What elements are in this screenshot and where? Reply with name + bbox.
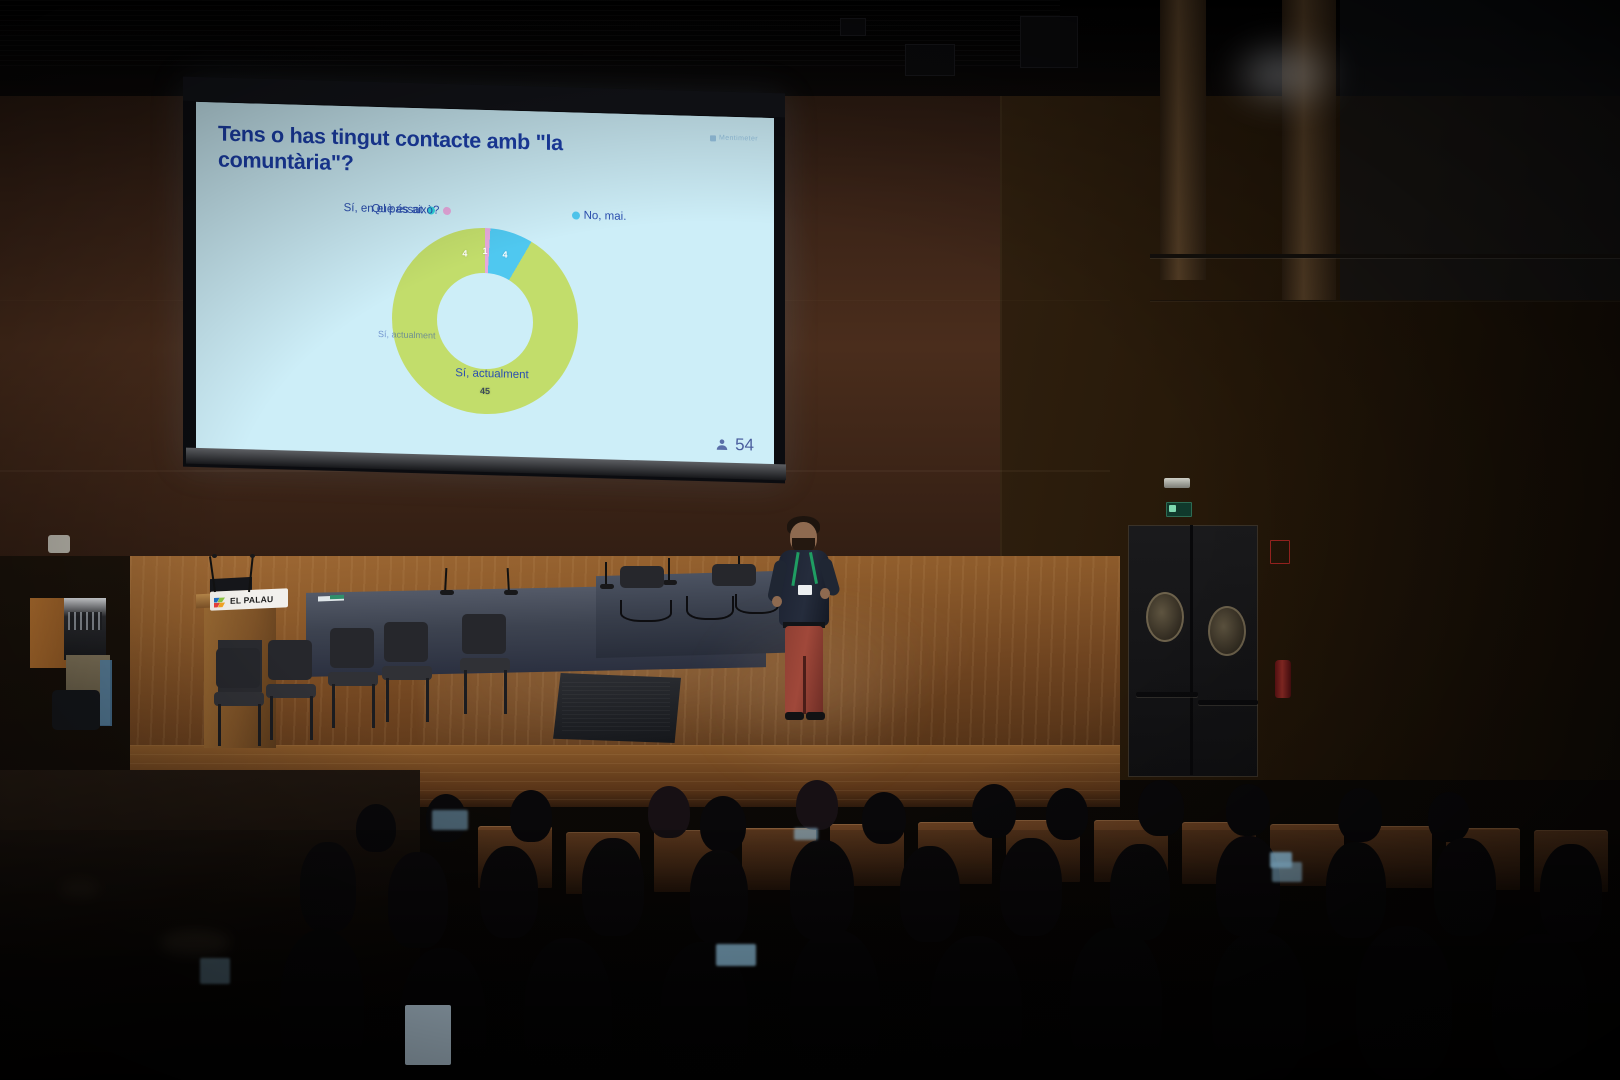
exit-doors[interactable] [1128,525,1258,777]
table-marker [330,595,344,599]
presenter [770,516,840,731]
response-count-value: 54 [735,435,754,456]
ceiling-grid [0,0,1060,70]
legend-item-que-es-aixo: Què és això? [372,203,452,217]
audience-shadow-overlay [0,830,1620,1080]
segment-value-que-es-aixo: 1 [482,246,487,256]
wall-light-glow [1242,52,1328,96]
mentimeter-slide: Mentimeter Tens o has tingut contacte am… [196,102,774,470]
mentimeter-brand-text: Mentimeter [719,135,758,143]
slide-title: Tens o has tingut contacte amb "la comun… [218,121,648,185]
audience-head [1138,780,1184,836]
door-push-bar[interactable] [1198,700,1258,705]
door-push-bar[interactable] [1136,692,1198,697]
el-palau-logo-icon [213,594,227,607]
emergency-light [1164,478,1190,488]
wall-speaker [48,535,70,553]
table-microphone-base [504,590,518,595]
segment-value-si-en-el-passat: 4 [462,248,467,258]
chart-legend-top: Sí, en el passat Què és això? No, mai. [196,198,774,228]
presenter-shoe-right [806,712,825,720]
presenter-shoe-left [785,712,804,720]
podium-sign-text: EL PALAU [230,593,273,605]
backpack [52,690,100,730]
table-cable [686,596,734,620]
segment-value-si-actualment: 45 [480,386,490,396]
podium-microphone-head [250,554,255,558]
device-screen-glow [794,828,818,840]
balcony-railing [1150,254,1620,258]
table-cable [620,600,672,622]
fire-extinguisher-sign [1270,540,1290,564]
device-screen-glow [200,958,230,984]
stage-light-fixture [905,44,955,76]
ceiling-speaker [1020,16,1078,68]
door-porthole-window [1146,592,1184,642]
device-screen-glow [1272,862,1302,882]
mentimeter-logo: Mentimeter [710,134,758,142]
presenter-hand-right [820,588,830,599]
podium-microphone-head [212,554,217,558]
legend-dot-pink [443,207,451,215]
balcony-railing [1150,300,1620,301]
table-microphone-base [600,584,614,589]
legend-label: Sí, actualment [455,367,529,381]
auditorium-photo: Mentimeter Tens o has tingut contacte am… [0,0,1620,1080]
door-split [1190,525,1193,775]
exit-sign-glyph-icon [1169,505,1176,512]
presenter-leg-gap [803,656,806,714]
audience-head [1226,784,1270,836]
partial-side-label: Sí, actualment [378,329,436,341]
door-porthole-window [1208,606,1246,656]
legend-label: Què és això? [372,203,440,217]
seat-number-card [405,1005,451,1065]
legend-dot-green [441,369,449,377]
presenter-hand-left [772,596,782,607]
floor-monitor-grill [562,682,670,732]
legend-label: Sí, en el passat [344,202,423,216]
fire-extinguisher [1275,660,1291,698]
device-screen-glow [716,944,756,966]
rigging-bracket [840,18,866,36]
person-icon [715,437,729,451]
legend-item-no-mai: No, mai. [572,209,627,223]
legend-item-si-en-el-passat: Sí, en el passat [344,202,435,217]
device-screen-glow [432,810,468,830]
audience-head [796,780,838,830]
balcony-column [1160,0,1206,280]
segment-value-no-mai: 4 [503,249,508,259]
mentimeter-mark-icon [710,135,716,141]
table-microphone-base [440,590,454,595]
legend-label: No, mai. [584,210,627,223]
table-microphone-base [663,580,677,585]
legend-dot-cyan [427,206,435,214]
av-mixer-controls [68,612,102,630]
blue-cloth [100,660,112,726]
projection-screen: Mentimeter Tens o has tingut contacte am… [196,102,774,470]
donut-chart: 45 4 1 4 [392,225,578,416]
presenter-badge [798,585,812,595]
legend-dot-blue [572,211,580,219]
response-count: 54 [715,434,754,455]
